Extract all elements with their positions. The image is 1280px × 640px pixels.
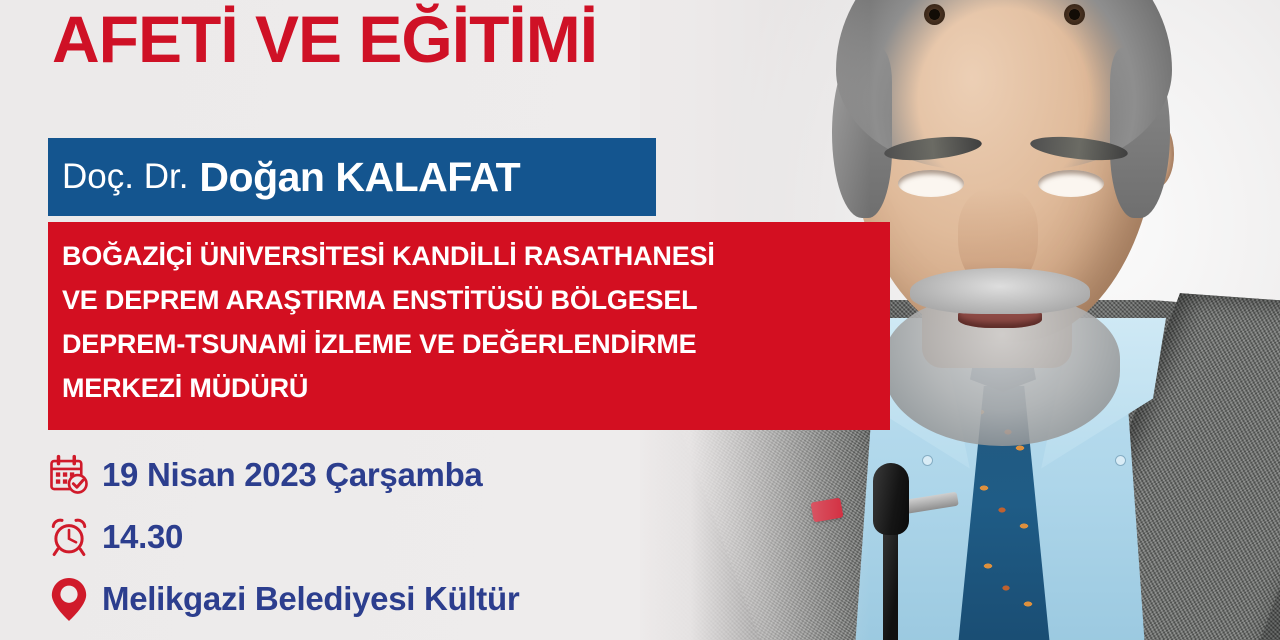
event-date: 19 Nisan 2023 Çarşamba: [102, 456, 482, 494]
speaker-name-banner: Doç. Dr. Doğan KALAFAT: [48, 138, 656, 216]
alarm-clock-icon: [48, 516, 102, 558]
collar-button-left: [922, 455, 933, 466]
calendar-check-icon: [48, 454, 102, 496]
detail-row-date: 19 Nisan 2023 Çarşamba: [48, 444, 519, 506]
iris-left: [924, 4, 945, 25]
affiliation-line: VE DEPREM ARAŞTIRMA ENSTİTÜSÜ BÖLGESEL: [62, 278, 890, 322]
location-pin-icon: [48, 575, 102, 623]
detail-row-location: Melikgazi Belediyesi Kültür: [48, 568, 519, 630]
affiliation-line: DEPREM-TSUNAMİ İZLEME VE DEĞERLENDİRME: [62, 322, 890, 366]
speaker-name: Doğan KALAFAT: [199, 154, 520, 201]
hair: [836, 0, 1172, 170]
event-location: Melikgazi Belediyesi Kültür: [102, 580, 519, 618]
affiliation-block: BOĞAZİÇİ ÜNİVERSİTESİ KANDİLLİ RASATHANE…: [48, 222, 890, 430]
event-time: 14.30: [102, 518, 183, 556]
eye-right: [1038, 170, 1104, 197]
collar-button-right: [1115, 455, 1126, 466]
detail-row-time: 14.30: [48, 506, 519, 568]
microphone-stem: [883, 528, 898, 640]
event-poster: AFETİ VE EĞİTİMİ Doç. Dr. Doğan KALAFAT …: [0, 0, 1280, 640]
affiliation-line: MERKEZİ MÜDÜRÜ: [62, 366, 890, 410]
iris-right: [1064, 4, 1085, 25]
mustache: [910, 268, 1090, 314]
event-details: 19 Nisan 2023 Çarşamba 14.30: [48, 444, 519, 630]
eye-left: [898, 170, 964, 197]
speaker-academic-title: Doç. Dr.: [62, 157, 188, 197]
affiliation-line: BOĞAZİÇİ ÜNİVERSİTESİ KANDİLLİ RASATHANE…: [62, 234, 890, 278]
page-title: AFETİ VE EĞİTİMİ: [52, 6, 597, 72]
lapel-microphone-icon: [873, 463, 909, 535]
